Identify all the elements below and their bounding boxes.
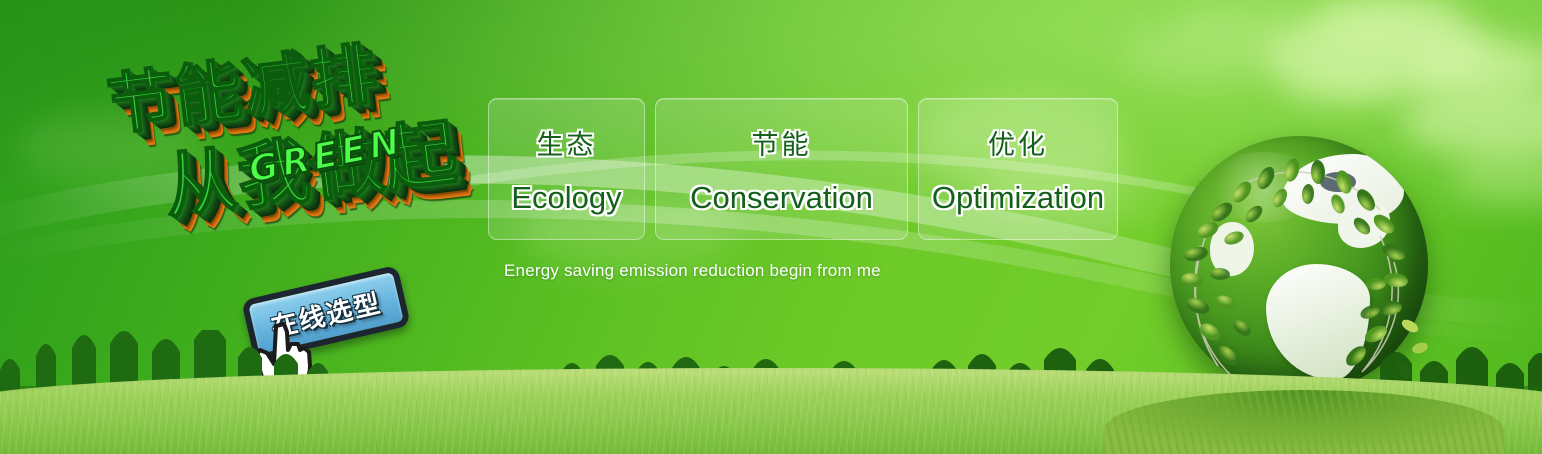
tagline-text: Energy saving emission reduction begin f… bbox=[504, 261, 881, 281]
cloud-icon bbox=[1278, 58, 1398, 104]
feature-card-conservation[interactable]: 节能 Conservation bbox=[655, 98, 908, 240]
card-title-cn: 生态 bbox=[537, 123, 597, 162]
card-title-en: Conservation bbox=[690, 180, 873, 216]
cloud-icon bbox=[1176, 0, 1296, 40]
globe-highlight bbox=[1204, 152, 1324, 222]
feature-card-ecology[interactable]: 生态 Ecology bbox=[488, 98, 645, 240]
continent-greenland bbox=[1210, 222, 1254, 276]
card-title-cn: 节能 bbox=[752, 123, 812, 162]
card-title-en: Optimization bbox=[932, 180, 1104, 216]
card-title-cn: 优化 bbox=[988, 123, 1048, 162]
feature-card-optimization[interactable]: 优化 Optimization bbox=[918, 98, 1118, 240]
logo-3d-text: 节能减排 从我做起 GREEN bbox=[87, 22, 492, 297]
card-title-en: Ecology bbox=[511, 180, 621, 216]
continent-central bbox=[1338, 202, 1390, 248]
eco-banner: 节能减排 从我做起 GREEN 在线选型 生态 Ecology 节能 Conse… bbox=[0, 0, 1542, 454]
feature-card-list: 生态 Ecology 节能 Conservation 优化 Optimizati… bbox=[488, 98, 1118, 240]
continent-arctic-shadow bbox=[1320, 172, 1356, 192]
